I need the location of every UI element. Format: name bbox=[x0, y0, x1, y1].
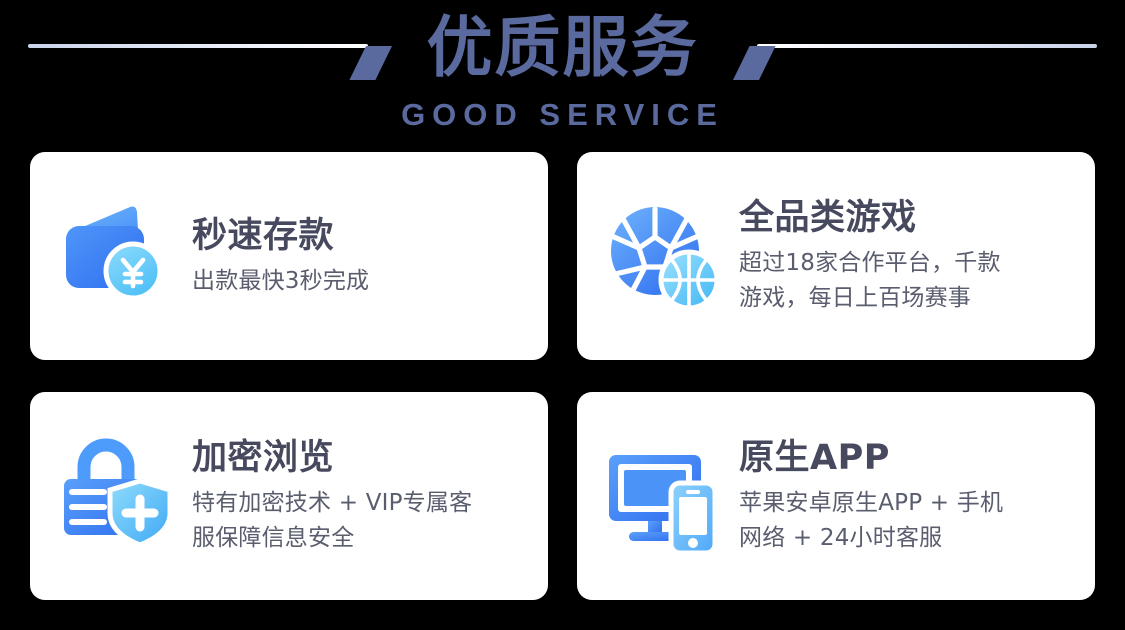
card-title: 秒速存款 bbox=[192, 214, 526, 258]
card-description-line: 特有加密技术 + VIP专属客 bbox=[192, 486, 526, 521]
card-description-line: 苹果安卓原生APP + 手机 bbox=[739, 486, 1073, 521]
card-description-line: 游戏，每日上百场赛事 bbox=[739, 281, 1073, 316]
card-title: 全品类游戏 bbox=[739, 196, 1073, 240]
page-root: 优质服务 GOOD SERVICE bbox=[0, 0, 1125, 630]
card-description: 超过18家合作平台，千款 游戏，每日上百场赛事 bbox=[739, 246, 1073, 316]
card-description: 出款最快3秒完成 bbox=[192, 264, 526, 299]
card-description-line: 网络 + 24小时客服 bbox=[739, 521, 1073, 556]
card-description-line: 服保障信息安全 bbox=[192, 521, 526, 556]
page-title: 优质服务 bbox=[0, 8, 1125, 88]
soccer-basketball-icon bbox=[603, 195, 725, 317]
header: 优质服务 GOOD SERVICE bbox=[0, 0, 1125, 148]
wallet-yen-icon bbox=[56, 195, 178, 317]
feature-card-native-app[interactable]: 原生APP 苹果安卓原生APP + 手机 网络 + 24小时客服 bbox=[577, 392, 1095, 600]
card-description-line: 超过18家合作平台，千款 bbox=[739, 246, 1073, 281]
lock-shield-icon bbox=[56, 435, 178, 557]
feature-card-games-text: 全品类游戏 超过18家合作平台，千款 游戏，每日上百场赛事 bbox=[739, 196, 1073, 316]
feature-card-encryption-text: 加密浏览 特有加密技术 + VIP专属客 服保障信息安全 bbox=[192, 436, 526, 556]
feature-card-deposit[interactable]: 秒速存款 出款最快3秒完成 bbox=[30, 152, 548, 360]
feature-card-encryption[interactable]: 加密浏览 特有加密技术 + VIP专属客 服保障信息安全 bbox=[30, 392, 548, 600]
card-description: 特有加密技术 + VIP专属客 服保障信息安全 bbox=[192, 486, 526, 556]
feature-card-games[interactable]: 全品类游戏 超过18家合作平台，千款 游戏，每日上百场赛事 bbox=[577, 152, 1095, 360]
monitor-phone-icon bbox=[603, 435, 725, 557]
card-title: 原生APP bbox=[739, 436, 1073, 480]
feature-card-native-app-text: 原生APP 苹果安卓原生APP + 手机 网络 + 24小时客服 bbox=[739, 436, 1073, 556]
card-title: 加密浏览 bbox=[192, 436, 526, 480]
feature-card-deposit-text: 秒速存款 出款最快3秒完成 bbox=[192, 214, 526, 299]
card-description: 苹果安卓原生APP + 手机 网络 + 24小时客服 bbox=[739, 486, 1073, 556]
feature-card-grid: 秒速存款 出款最快3秒完成 bbox=[30, 152, 1095, 600]
card-description-line: 出款最快3秒完成 bbox=[192, 264, 526, 299]
page-subtitle: GOOD SERVICE bbox=[0, 96, 1125, 134]
